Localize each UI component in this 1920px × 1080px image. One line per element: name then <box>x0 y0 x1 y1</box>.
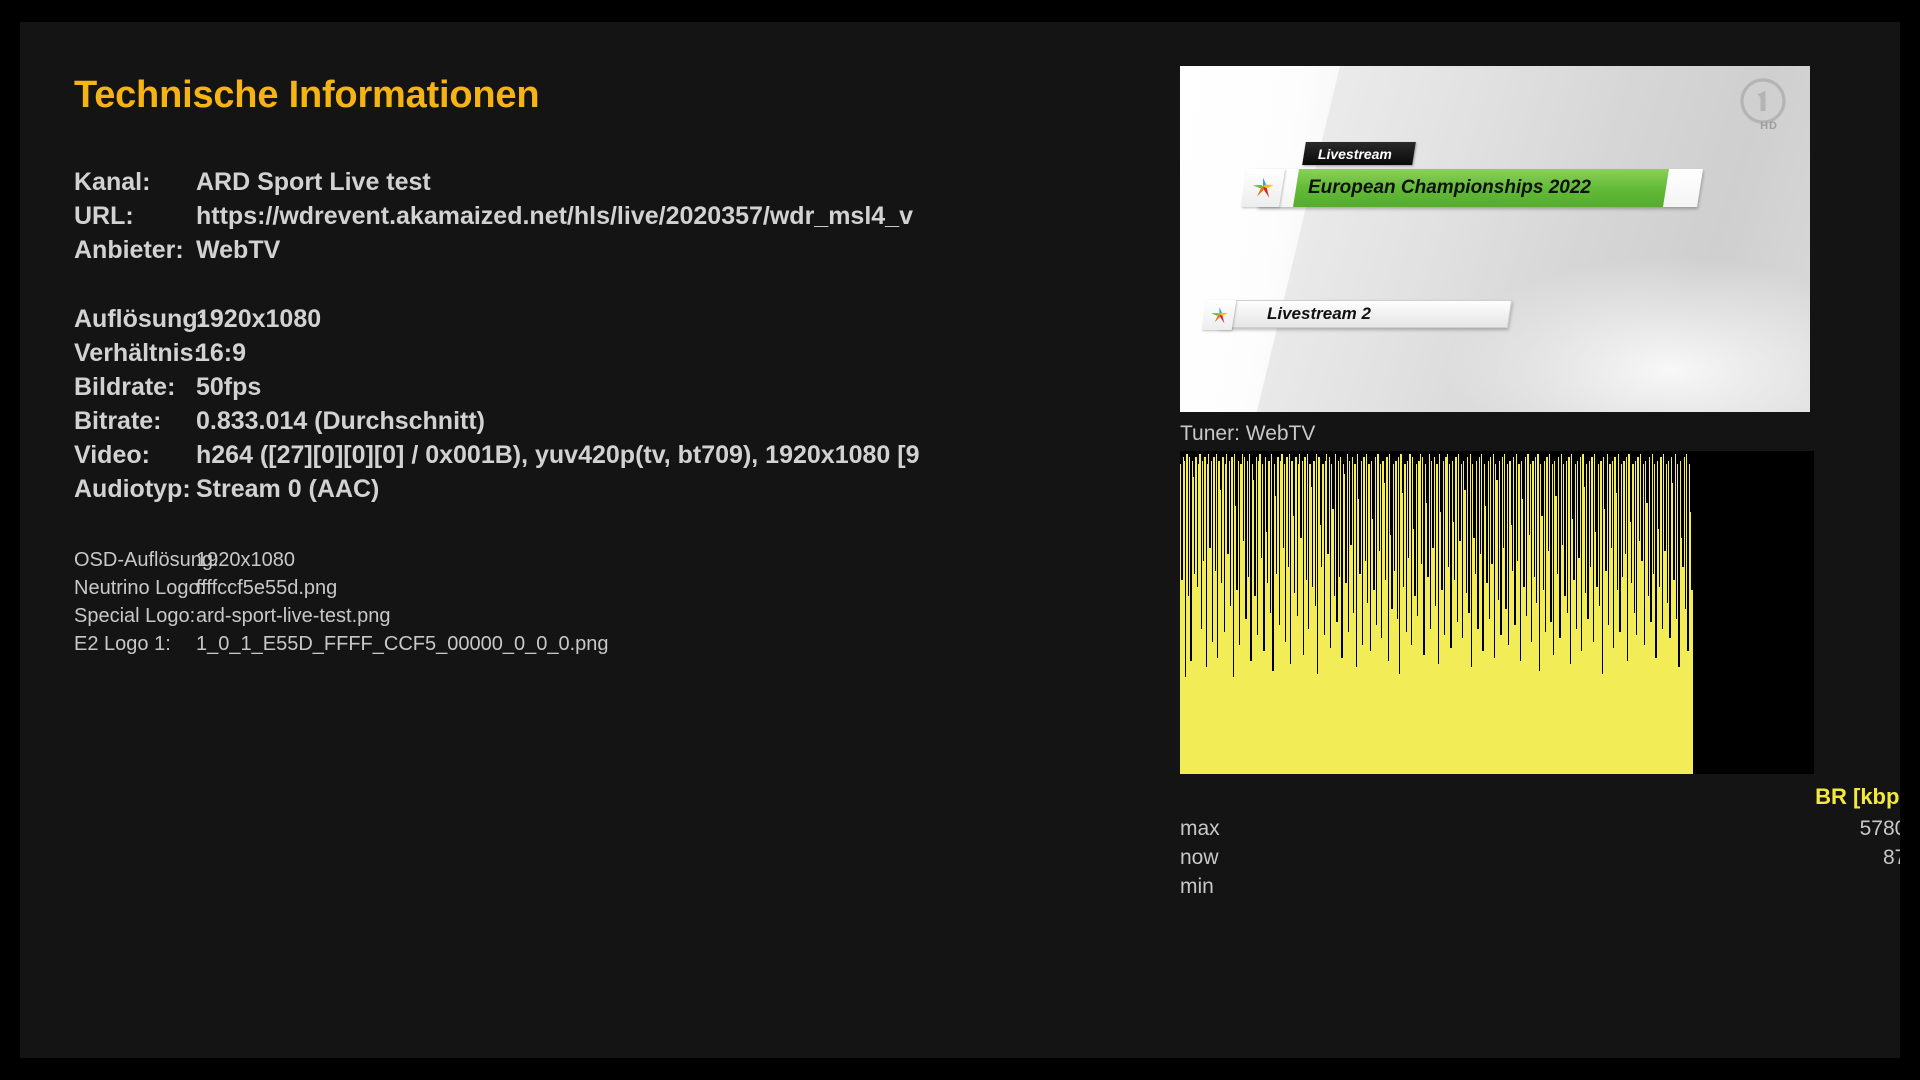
info-value-audiotyp: Stream 0 (AAC) <box>196 475 379 504</box>
page-title: Technische Informationen <box>74 74 539 117</box>
bitrate-stat-min: min 0 <box>1178 875 1920 904</box>
info-row-kanal: Kanal: ARD Sport Live test <box>0 168 1175 202</box>
ec-star-icon-2 <box>1202 300 1237 330</box>
bitrate-stat-max: max 57808 <box>1178 817 1920 846</box>
info-label-video: Video: <box>0 441 196 470</box>
technical-info-panel: Technische Informationen Kanal: ARD Spor… <box>0 22 1175 1058</box>
info-label-neutrino-logo: Neutrino Logo: <box>0 577 196 600</box>
osd-screen: Technische Informationen Kanal: ARD Spor… <box>0 0 1920 1080</box>
info-value-special-logo: ard-sport-live-test.png <box>196 605 391 628</box>
info-value-aufloesung: 1920x1080 <box>196 305 321 334</box>
ard-one-logo-icon <box>1740 78 1786 124</box>
info-label-audiotyp: Audiotyp: <box>0 475 196 504</box>
info-label-bitrate: Bitrate: <box>0 407 196 436</box>
info-label-aufloesung: Auflösung: <box>0 305 196 334</box>
preview-wedge <box>1180 66 1340 412</box>
info-value-e2-logo-1: 1_0_1_E55D_FFFF_CCF5_00000_0_0_0.png <box>196 633 609 656</box>
bitrate-stat-now: now 872 <box>1178 846 1920 875</box>
video-preview[interactable]: HD Livestream European Championships 202… <box>1180 66 1810 412</box>
info-value-bildrate: 50fps <box>196 373 261 402</box>
green-banner-label: European Championships 2022 <box>1308 177 1591 199</box>
info-row-aufloesung: Auflösung: 1920x1080 <box>0 305 1175 339</box>
info-label-special-logo: Special Logo: <box>0 605 196 628</box>
bitrate-stats: max 57808 now 872 min 0 <box>1178 817 1920 904</box>
info-row-osd-aufloesung: OSD-Auflösung: 1920x1080 <box>0 549 1175 577</box>
bitrate-graph-bars <box>1180 451 1690 774</box>
info-value-osd-aufloesung: 1920x1080 <box>196 549 295 572</box>
info-row-special-logo: Special Logo: ard-sport-live-test.png <box>0 605 1175 633</box>
info-value-anbieter: WebTV <box>196 236 280 265</box>
green-banner: European Championships 2022 <box>1257 169 1703 207</box>
white-banner-label: Livestream 2 <box>1267 304 1371 324</box>
main-info-block: Kanal: ARD Sport Live test URL: https://… <box>0 168 1175 270</box>
livestream-tab: Livestream <box>1302 142 1416 165</box>
info-value-kanal: ARD Sport Live test <box>196 168 431 197</box>
info-label-kanal: Kanal: <box>0 168 196 197</box>
info-label-verhaeltnis: Verhältnis: <box>0 339 196 368</box>
bitrate-graph <box>1180 451 1814 774</box>
letterbox-right <box>1900 0 1920 1080</box>
info-value-bitrate: 0.833.014 (Durchschnitt) <box>196 407 485 436</box>
info-label-url: URL: <box>0 202 196 231</box>
white-banner: Livestream 2 <box>1218 300 1512 328</box>
info-value-neutrino-logo: ffffccf5e55d.png <box>196 577 337 600</box>
info-row-video: Video: h264 ([27][0][0][0] / 0x001B), yu… <box>0 441 1175 475</box>
bitrate-stat-now-key: now <box>1180 846 1219 870</box>
info-row-audiotyp: Audiotyp: Stream 0 (AAC) <box>0 475 1175 509</box>
info-value-video: h264 ([27][0][0][0] / 0x001B), yuv420p(t… <box>196 441 920 470</box>
right-column: HD Livestream European Championships 202… <box>1178 22 1920 1058</box>
bitrate-stat-min-key: min <box>1180 875 1214 899</box>
info-row-anbieter: Anbieter: WebTV <box>0 236 1175 270</box>
letterbox-left <box>0 0 20 1080</box>
video-info-block: Auflösung: 1920x1080 Verhältnis: 16:9 Bi… <box>0 305 1175 509</box>
info-row-bildrate: Bildrate: 50fps <box>0 373 1175 407</box>
info-value-verhaeltnis: 16:9 <box>196 339 246 368</box>
info-label-anbieter: Anbieter: <box>0 236 196 265</box>
info-row-e2-logo-1: E2 Logo 1: 1_0_1_E55D_FFFF_CCF5_00000_0_… <box>0 633 1175 661</box>
hd-badge: HD <box>1760 120 1778 132</box>
info-row-neutrino-logo: Neutrino Logo: ffffccf5e55d.png <box>0 577 1175 605</box>
info-label-bildrate: Bildrate: <box>0 373 196 402</box>
bitrate-bar <box>1691 590 1692 774</box>
info-row-verhaeltnis: Verhältnis: 16:9 <box>0 339 1175 373</box>
info-label-osd-aufloesung: OSD-Auflösung: <box>0 549 196 572</box>
info-value-url: https://wdrevent.akamaized.net/hls/live/… <box>196 202 913 231</box>
ec-star-icon <box>1241 169 1285 207</box>
info-row-url: URL: https://wdrevent.akamaized.net/hls/… <box>0 202 1175 236</box>
preview-image: HD Livestream European Championships 202… <box>1180 66 1810 412</box>
logo-info-block: OSD-Auflösung: 1920x1080 Neutrino Logo: … <box>0 549 1175 661</box>
livestream-tab-label: Livestream <box>1318 146 1392 162</box>
bitrate-stat-max-key: max <box>1180 817 1220 841</box>
info-label-e2-logo-1: E2 Logo 1: <box>0 633 196 656</box>
info-row-bitrate: Bitrate: 0.833.014 (Durchschnitt) <box>0 407 1175 441</box>
tuner-label: Tuner: WebTV <box>1180 422 1315 446</box>
